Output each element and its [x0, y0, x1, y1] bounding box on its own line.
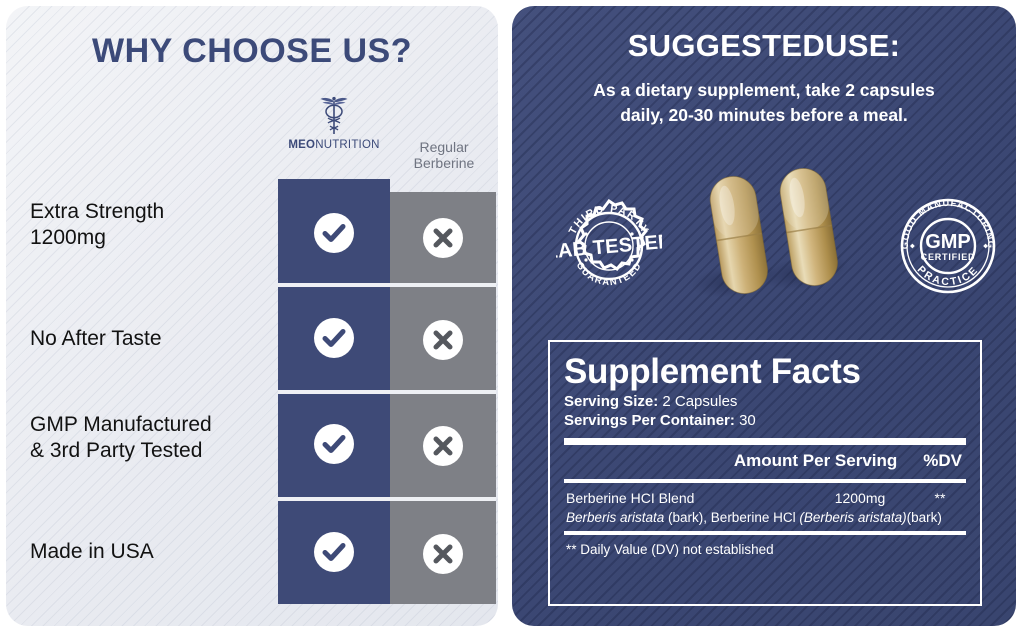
ingredient-plain-2: (bark) — [907, 510, 942, 525]
feature-text-line1: Made in USA — [30, 539, 278, 565]
row-separator — [390, 497, 496, 501]
ingredient-amount: 1200mg — [806, 490, 914, 506]
page-title: WHY CHOOSE US? — [6, 32, 498, 71]
brand-name: MEONUTRITION — [278, 139, 390, 151]
serving-size-value: 2 Capsules — [662, 393, 737, 410]
ingredient-row: Berberine HCI Blend 1200mg ** — [564, 483, 966, 506]
directions-line1: As a dietary supplement, take 2 capsules — [542, 78, 986, 103]
caduceus-icon — [319, 94, 349, 136]
directions-line2: daily, 20-30 minutes before a meal. — [542, 103, 986, 128]
check-icon-row-2 — [314, 318, 354, 358]
brand-column-header: MEONUTRITION — [278, 94, 390, 151]
check-icon-row-1 — [314, 213, 354, 253]
ingredient-plain-1: (bark), Berberine HCl — [664, 510, 799, 525]
serving-size-label: Serving Size: — [564, 393, 658, 410]
row-separator — [390, 390, 496, 394]
row-separator — [390, 283, 496, 287]
feature-text-line1: Extra Strength — [30, 199, 278, 225]
ingredient-dv: ** — [914, 490, 966, 506]
servings-per-container-row: Servings Per Container: 30 — [564, 411, 966, 430]
two-capsules-icon — [687, 168, 857, 318]
feature-text-line2: & 3rd Party Tested — [30, 438, 278, 464]
cross-icon-row-1 — [423, 218, 463, 258]
feature-label-no-after-taste: No After Taste — [30, 326, 278, 352]
supplement-facts-title: Supplement Facts — [564, 352, 966, 392]
competitor-header-line2: Berberine — [390, 155, 498, 171]
cross-icon-row-3 — [423, 426, 463, 466]
feature-text-line1: GMP Manufactured — [30, 412, 278, 438]
servings-per-container-value: 30 — [739, 412, 756, 429]
suggested-use-title: SUGGESTEDUSE: — [512, 28, 1016, 64]
competitor-header-line1: Regular — [390, 139, 498, 155]
feature-label-extra-strength: Extra Strength 1200mg — [30, 199, 278, 251]
facts-column-headers: Amount Per Serving %DV — [564, 445, 966, 474]
competitor-column-header: Regular Berberine — [390, 139, 498, 171]
svg-text:CERTIFIED: CERTIFIED — [921, 252, 976, 262]
feature-label-gmp-manufactured: GMP Manufactured & 3rd Party Tested — [30, 412, 278, 464]
brand-name-bold: MEO — [288, 139, 315, 151]
column-header-amount: Amount Per Serving — [734, 451, 897, 471]
lab-tested-seal-icon: THIRD PARTY GUARANTEED LAB TESTED — [556, 196, 662, 301]
feature-text-line2: 1200mg — [30, 225, 278, 251]
check-icon-row-4 — [314, 532, 354, 572]
ingredient-subtext: Berberis aristata (bark), Berberine HCl … — [564, 506, 966, 526]
check-icon-row-3 — [314, 424, 354, 464]
feature-label-made-in-usa: Made in USA — [30, 539, 278, 565]
supplement-facts-box: Supplement Facts Serving Size: 2 Capsule… — [548, 340, 982, 606]
gmp-certified-seal-icon: GOOD MANUFACTURING PRACTICE GMP CERTIFIE… — [898, 196, 998, 301]
suggested-use-panel: SUGGESTEDUSE: As a dietary supplement, t… — [512, 6, 1016, 626]
why-choose-us-panel: WHY CHOOSE US? — [6, 6, 498, 626]
row-separator — [278, 390, 390, 394]
comparison-column-headers: MEONUTRITION Regular Berberine — [278, 94, 498, 174]
cross-icon-row-4 — [423, 534, 463, 574]
servings-per-container-label: Servings Per Container: — [564, 412, 735, 429]
row-separator — [278, 497, 390, 501]
row-separator — [278, 283, 390, 287]
svg-text:GMP: GMP — [925, 231, 971, 253]
svg-text:LAB TESTED: LAB TESTED — [556, 230, 662, 263]
feature-text-line1: No After Taste — [30, 326, 278, 352]
serving-size-row: Serving Size: 2 Capsules — [564, 392, 966, 411]
column-header-dv: %DV — [923, 451, 962, 471]
directions-text: As a dietary supplement, take 2 capsules… — [542, 78, 986, 128]
facts-footnote: ** Daily Value (DV) not established — [564, 535, 966, 557]
ingredient-latin-1: Berberis aristata — [566, 510, 664, 525]
svg-text:THIRD PARTY: THIRD PARTY — [567, 203, 652, 237]
facts-divider-thick — [564, 438, 966, 445]
brand-name-regular: NUTRITION — [315, 139, 379, 151]
ingredient-name: Berberine HCI Blend — [566, 490, 806, 506]
ingredient-latin-2: (Berberis aristata) — [799, 510, 906, 525]
infographic-stage: WHY CHOOSE US? — [0, 0, 1024, 634]
cross-icon-row-2 — [423, 320, 463, 360]
